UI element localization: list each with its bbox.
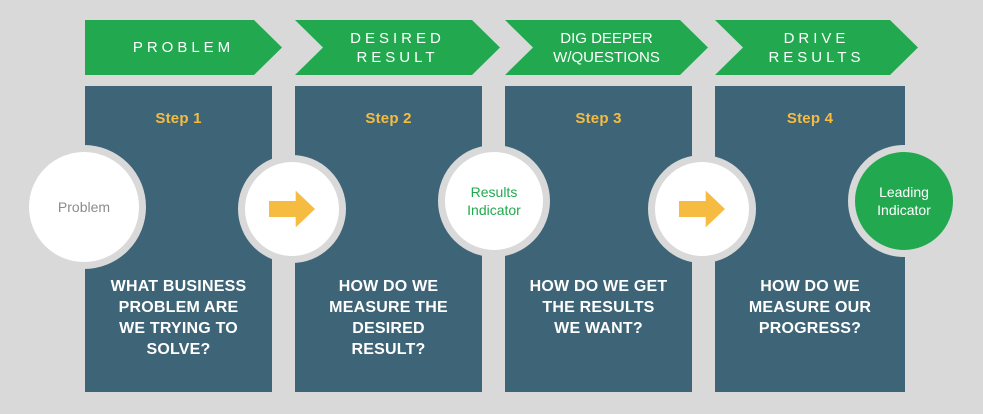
- step-question: WHAT BUSINESSPROBLEM AREWE TRYING TOSOLV…: [93, 276, 264, 360]
- right-arrow-icon: [679, 189, 725, 229]
- circle-arrow-connector-2: [648, 155, 756, 263]
- step-label: Step 2: [295, 110, 482, 127]
- circle-results-indicator[interactable]: ResultsIndicator: [438, 145, 550, 257]
- banner-label: DRIVERESULTS: [715, 29, 918, 67]
- step-question: HOW DO WEMEASURE THEDESIREDRESULT?: [303, 276, 474, 360]
- banner-drive-results[interactable]: DRIVERESULTS: [715, 20, 918, 75]
- step-label: Step 1: [85, 110, 272, 127]
- process-diagram: PROBLEM DESIREDRESULT DIG DEEPERW/QUESTI…: [0, 0, 983, 414]
- circle-leading-indicator[interactable]: LeadingIndicator: [848, 145, 960, 257]
- step-label: Step 4: [715, 110, 905, 127]
- banner-label: DESIREDRESULT: [295, 29, 500, 67]
- circle-label: Problem: [58, 198, 110, 216]
- banner-label: DIG DEEPERW/QUESTIONS: [505, 29, 708, 67]
- circle-label: ResultsIndicator: [467, 183, 521, 219]
- banner-problem[interactable]: PROBLEM: [85, 20, 282, 75]
- right-arrow-icon: [269, 189, 315, 229]
- circle-problem[interactable]: Problem: [22, 145, 146, 269]
- banner-dig-deeper[interactable]: DIG DEEPERW/QUESTIONS: [505, 20, 708, 75]
- banner-desired-result[interactable]: DESIREDRESULT: [295, 20, 500, 75]
- banner-label: PROBLEM: [85, 38, 282, 57]
- step-question: HOW DO WEMEASURE OURPROGRESS?: [723, 276, 897, 339]
- circle-label: LeadingIndicator: [877, 183, 931, 219]
- step-label: Step 3: [505, 110, 692, 127]
- circle-arrow-connector-1: [238, 155, 346, 263]
- step-question: HOW DO WE GETTHE RESULTSWE WANT?: [513, 276, 684, 339]
